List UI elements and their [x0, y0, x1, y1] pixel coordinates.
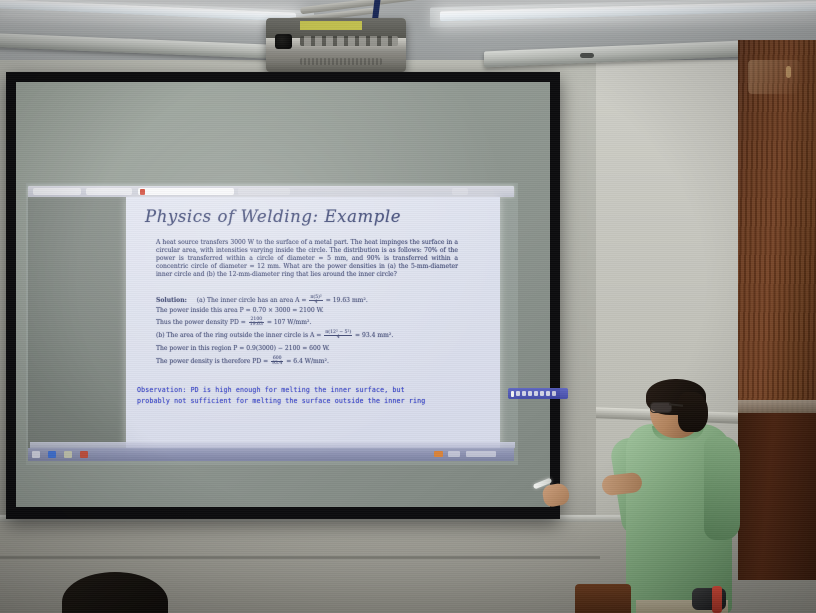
wall-trim-secondary: [0, 556, 600, 559]
presenter: [612, 382, 750, 613]
water-bottle: [712, 586, 722, 613]
presenter-hair-back: [678, 392, 708, 432]
chair: [575, 584, 631, 613]
door-handle[interactable]: [786, 66, 791, 78]
more-options-icon[interactable]: [552, 391, 556, 396]
presenter-right-sleeve: [704, 436, 740, 540]
projector-label: [300, 21, 362, 30]
projector-ports: [300, 36, 398, 46]
screen-housing-knob: [580, 53, 594, 58]
door-light-reflection: [748, 60, 800, 94]
projector-vent: [300, 58, 382, 65]
classroom-scene: Physics of Welding: Example A heat sourc…: [0, 0, 816, 613]
screen-glare: [16, 82, 550, 507]
projector-lens: [275, 34, 292, 49]
